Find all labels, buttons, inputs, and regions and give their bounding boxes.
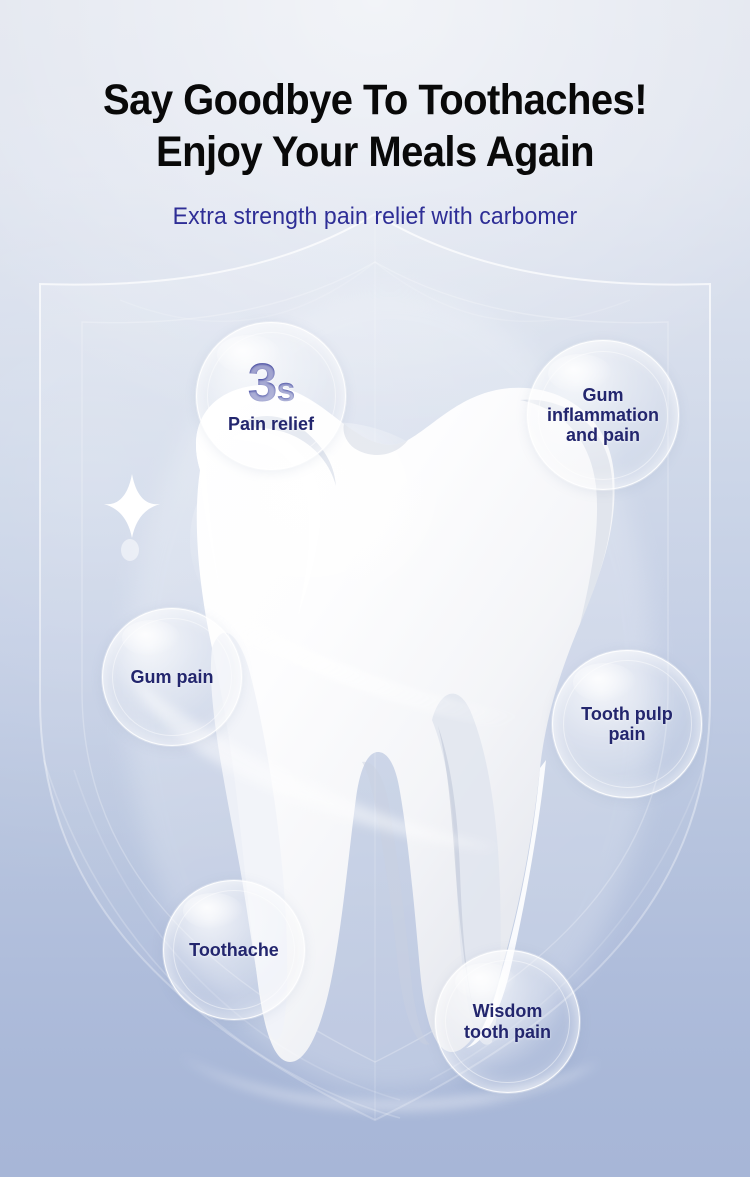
pain-relief-caption: Pain relief <box>228 414 314 434</box>
line-1: Wisdom <box>473 1001 543 1021</box>
bubble-wisdom-tooth-pain-label: Wisdom tooth pain <box>464 1001 551 1041</box>
headline-line-2: Enjoy Your Meals Again <box>26 124 724 176</box>
bubble-gum-inflammation-label: Gum inflammation and pain <box>547 385 659 445</box>
bubble-pain-relief: 3s Pain relief <box>196 322 346 470</box>
line-2: inflammation <box>547 405 659 425</box>
line-1: Tooth pulp <box>581 704 673 724</box>
bubble-gum-pain: Gum pain <box>102 608 242 746</box>
line-3: and pain <box>566 425 640 445</box>
line-2: tooth pain <box>464 1022 551 1042</box>
bubble-pain-relief-label: 3s Pain relief <box>228 358 314 434</box>
line-2: pain <box>608 724 645 744</box>
bubble-tooth-pulp-pain-label: Tooth pulp pain <box>581 704 673 744</box>
bubble-wisdom-tooth-pain: Wisdom tooth pain <box>435 950 580 1093</box>
sparkle-icon <box>104 474 160 538</box>
sparkle-small-icon <box>121 539 139 561</box>
light-arcs <box>44 760 706 1118</box>
header: Say Goodbye To Toothaches! Enjoy Your Me… <box>0 0 750 231</box>
headline-line-1: Say Goodbye To Toothaches! <box>26 0 724 124</box>
bubble-gum-inflammation: Gum inflammation and pain <box>527 340 679 490</box>
line-1: Gum <box>582 385 623 405</box>
bubble-toothache-label: Toothache <box>189 940 279 960</box>
promo-banner: Say Goodbye To Toothaches! Enjoy Your Me… <box>0 0 750 1177</box>
bubble-toothache: Toothache <box>163 880 305 1020</box>
pain-relief-value: 3s <box>228 358 314 410</box>
bubble-gum-pain-label: Gum pain <box>130 667 213 687</box>
subtitle: Extra strength pain relief with carbomer <box>15 203 735 231</box>
pain-relief-unit: s <box>277 371 295 409</box>
bubble-tooth-pulp-pain: Tooth pulp pain <box>552 650 702 798</box>
